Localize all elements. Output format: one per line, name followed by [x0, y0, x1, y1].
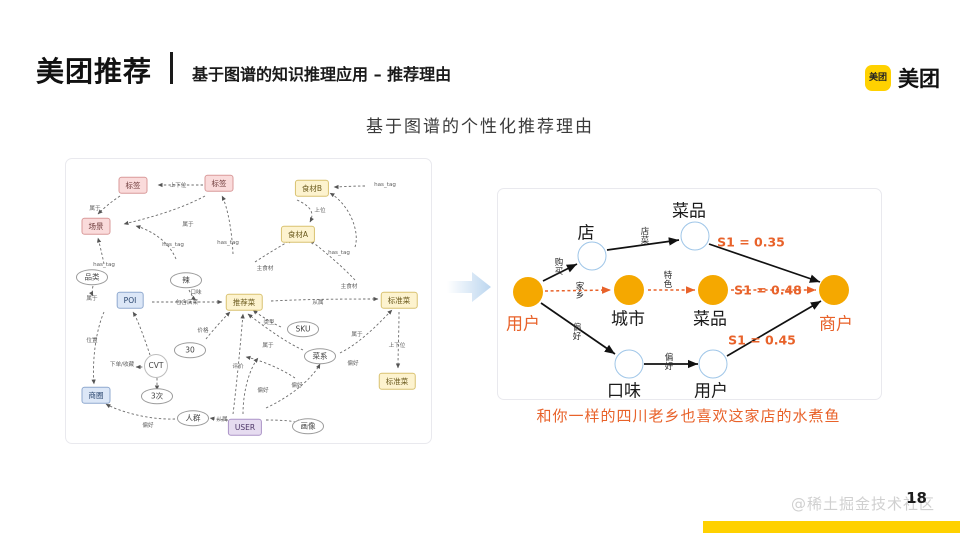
rg-node-user-mid [699, 350, 728, 379]
kg-edge-label: 主食材 [257, 264, 274, 272]
rg-node-taste [615, 350, 644, 379]
rg-node-dish-top [681, 222, 710, 251]
rg-edge-label: 店 菜 [641, 228, 650, 246]
rg-node-dish-mid [698, 275, 728, 305]
kg-edge-label: has_tag [162, 242, 184, 248]
reasoning-caption: 和你一样的四川老乡也喜欢这家店的水煮鱼 [497, 405, 880, 426]
kg-edge-label: has_tag [217, 240, 239, 246]
slide-header: 美团推荐 基于图谱的知识推理应用 – 推荐理由 美团 美团 [0, 24, 960, 80]
kg-edge-label: 价格 [197, 326, 208, 334]
rg-node-label-shop: 店 [578, 219, 595, 244]
meituan-logo: 美团 美团 [865, 63, 940, 93]
footer-accent-bar [703, 521, 960, 533]
kg-node-tag1: 标签 [119, 177, 148, 194]
rg-node-label-city: 城市 [611, 305, 645, 330]
kg-node-tag2: 标签 [205, 175, 234, 192]
kg-node-foodB: 食材B [295, 180, 329, 197]
rg-edge-label: 偏 好 [573, 324, 582, 342]
meituan-logo-icon: 美团 [865, 65, 891, 91]
kg-edge-label: 偏好 [291, 381, 302, 389]
kg-edge-label: 类型 [263, 318, 274, 326]
rg-node-label-dish-mid: 菜品 [693, 305, 727, 330]
kg-node-category: 品类 [76, 269, 108, 285]
kg-edge-label: has_tag [374, 182, 396, 188]
kg-edge-label: 上下位 [170, 181, 187, 189]
rg-score-label: S1 = 0.35 [717, 235, 785, 250]
kg-node-district: 商圈 [82, 387, 111, 404]
kg-node-stddish1: 标准菜 [381, 292, 418, 309]
kg-edge-label: 上位 [314, 206, 325, 214]
kg-edge-label: 偏好 [142, 421, 153, 429]
rg-edge-label: 特 色 [664, 272, 673, 290]
kg-edge-label: 偏好 [257, 386, 268, 394]
kg-edge-label: 属于 [262, 341, 273, 349]
kg-node-scene: 场景 [82, 218, 111, 235]
kg-edge-label: 从属 [312, 298, 323, 306]
kg-edge-label: 属于 [86, 294, 97, 302]
kg-edge-label: has_tag [328, 250, 350, 256]
kg-node-crowd: 人群 [177, 410, 209, 426]
rg-node-user-src [513, 277, 543, 307]
rg-node-label-merchant: 商户 [819, 310, 853, 335]
rg-node-city [614, 275, 644, 305]
kg-node-times3: 3次 [141, 388, 173, 404]
page-number: 18 [906, 489, 927, 507]
rg-node-label-dish-top: 菜品 [672, 197, 706, 222]
rg-node-label-taste: 口味 [607, 377, 641, 402]
kg-edge-label: 位置 [86, 336, 97, 344]
transition-arrow-icon [446, 270, 492, 304]
kg-node-user: USER [228, 419, 262, 436]
section-title: 基于图谱的个性化推荐理由 [0, 112, 960, 137]
kg-node-stddish2: 标准菜 [379, 373, 416, 390]
kg-node-recdish: 推荐菜 [226, 294, 263, 311]
header-divider [170, 52, 173, 84]
header-subtitle: 基于图谱的知识推理应用 – 推荐理由 [192, 61, 451, 85]
kg-node-portrait: 画像 [292, 418, 324, 434]
kg-node-price30: 30 [174, 342, 206, 358]
kg-edge-label: 上下位 [389, 341, 406, 349]
rg-edge-label: 偏 好 [665, 354, 674, 372]
rg-score-label: S1 = 0.45 [728, 333, 796, 348]
kg-edge-label: 偏好 [347, 359, 358, 367]
kg-node-sku: SKU [287, 321, 319, 337]
rg-node-merchant [819, 275, 849, 305]
page-title: 美团推荐 [36, 50, 152, 90]
rg-edge-label: 购 买 [555, 259, 564, 277]
kg-edge-label: 下单/收藏 [110, 360, 134, 368]
rg-node-label-user-src: 用户 [506, 310, 540, 335]
rg-edge-label: 家 乡 [576, 283, 585, 301]
slide-canvas: 美团推荐 基于图谱的知识推理应用 – 推荐理由 美团 美团 基于图谱的个性化推荐… [0, 0, 960, 540]
kg-node-spicy: 辣 [170, 272, 202, 288]
kg-edge-label: 口味 [190, 288, 201, 296]
kg-node-foodA: 食材A [281, 226, 315, 243]
rg-node-shop [578, 242, 607, 271]
kg-node-cvt: CVT [144, 354, 168, 378]
kg-edge-label: 从属 [216, 415, 227, 423]
kg-edge-label: 属于 [89, 204, 100, 212]
kg-edge-label: 评价 [232, 362, 243, 370]
meituan-logo-text: 美团 [898, 63, 940, 93]
kg-node-poi: POI [117, 292, 144, 309]
kg-edge-label: has_tag [93, 262, 115, 268]
kg-edge-label: 属于 [351, 330, 362, 338]
rg-score-label: S1 = 0.48 [734, 283, 802, 298]
kg-node-cuisine: 菜系 [304, 348, 336, 364]
rg-node-label-user-mid: 用户 [694, 377, 728, 402]
kg-edge-label: 属于 [182, 220, 193, 228]
kg-edge-label: 包含店菜 [176, 298, 198, 306]
kg-edge-label: 主食材 [341, 282, 358, 290]
